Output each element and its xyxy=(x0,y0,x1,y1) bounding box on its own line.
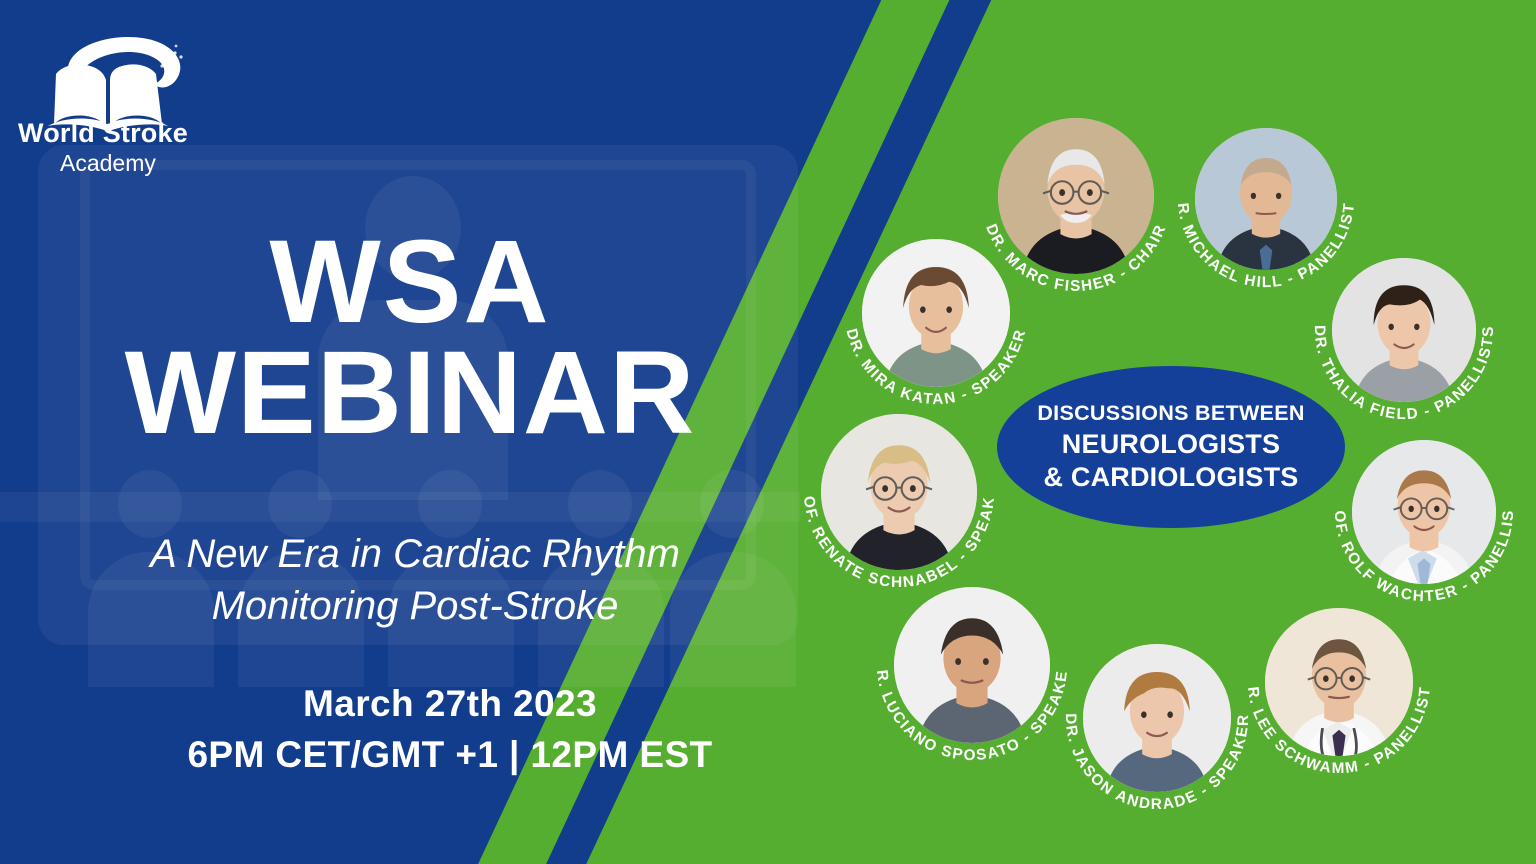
title-line-webinar: WEBINAR xyxy=(0,337,820,449)
hero-subtitle: A New Era in Cardiac Rhythm Monitoring P… xyxy=(0,528,830,632)
wsa-logo-text: World Stroke Academy xyxy=(18,118,278,177)
event-date: March 27th 2023 xyxy=(0,678,900,729)
subtitle-line-1: A New Era in Cardiac Rhythm xyxy=(0,528,830,580)
event-datetime: March 27th 2023 6PM CET/GMT +1 | 12PM ES… xyxy=(0,678,900,780)
badge-line-1: DISCUSSIONS BETWEEN xyxy=(1037,401,1304,426)
event-time: 6PM CET/GMT +1 | 12PM EST xyxy=(0,729,900,780)
participant-9: DR. MIRA KATAN - SPEAKER xyxy=(823,200,1049,426)
hero-title: WSA WEBINAR xyxy=(0,228,820,449)
participant-label-arc: DR. MIRA KATAN - SPEAKER xyxy=(823,200,1049,426)
subtitle-line-2: Monitoring Post-Stroke xyxy=(0,580,830,632)
logo-line-academy: Academy xyxy=(60,150,278,177)
logo-line-world-stroke: World Stroke xyxy=(18,118,278,149)
participant-label: DR. JASON ANDRADE - SPEAKER xyxy=(1062,713,1252,813)
participant-label: DR. MIRA KATAN - SPEAKER xyxy=(843,327,1030,408)
title-line-wsa: WSA xyxy=(0,228,820,337)
webinar-promo-banner: World Stroke Academy WSA WEBINAR A New E… xyxy=(0,0,1536,864)
badge-line-3: & CARDIOLOGISTS xyxy=(1043,462,1298,493)
badge-line-2: NEUROLOGISTS xyxy=(1062,429,1280,460)
